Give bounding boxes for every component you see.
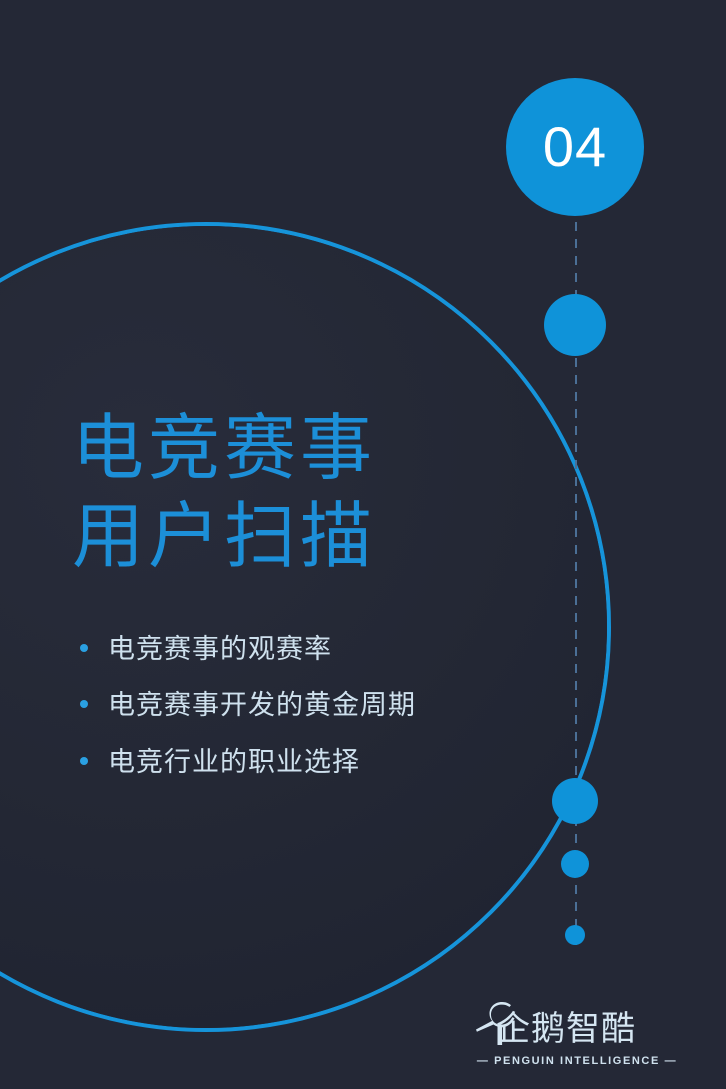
slide-title: 电竞赛事 用户扫描 <box>72 405 492 581</box>
agenda-list: 电竞赛事的观赛率 电竞赛事开发的黄金周期 电竞行业的职业选择 <box>80 634 520 803</box>
penguin-logo-icon: 企鹅智酷 <box>472 998 682 1050</box>
logo-tagline: — PENGUIN INTELLIGENCE — <box>472 1055 682 1067</box>
list-item-label: 电竞赛事的观赛率 <box>108 634 332 666</box>
decorative-dot-4 <box>561 850 589 878</box>
title-line-1: 电竞赛事 <box>72 405 492 493</box>
section-number-badge: 04 <box>506 78 644 216</box>
brand-logo: 企鹅智酷 — PENGUIN INTELLIGENCE — <box>472 998 682 1067</box>
decorative-dot-3 <box>552 778 598 824</box>
list-item-label: 电竞赛事开发的黄金周期 <box>108 690 416 722</box>
list-item: 电竞行业的职业选择 <box>80 747 520 779</box>
list-item: 电竞赛事的观赛率 <box>80 634 520 666</box>
section-number-label: 04 <box>543 119 607 175</box>
decorative-dot-2 <box>544 294 606 356</box>
list-item: 电竞赛事开发的黄金周期 <box>80 690 520 722</box>
list-item-label: 电竞行业的职业选择 <box>108 747 360 779</box>
bullet-dot-icon <box>80 700 88 708</box>
large-circle-fill <box>0 226 607 1028</box>
decorative-large-circle <box>0 222 611 1032</box>
decorative-dot-5 <box>565 925 585 945</box>
bullet-dot-icon <box>80 644 88 652</box>
slide-root: 04 电竞赛事 用户扫描 电竞赛事的观赛率 电竞赛事开发的黄金周期 电竞行业的职… <box>0 0 726 1089</box>
bullet-dot-icon <box>80 757 88 765</box>
title-line-2: 用户扫描 <box>72 493 492 581</box>
svg-text:企鹅智酷: 企鹅智酷 <box>496 1009 636 1049</box>
